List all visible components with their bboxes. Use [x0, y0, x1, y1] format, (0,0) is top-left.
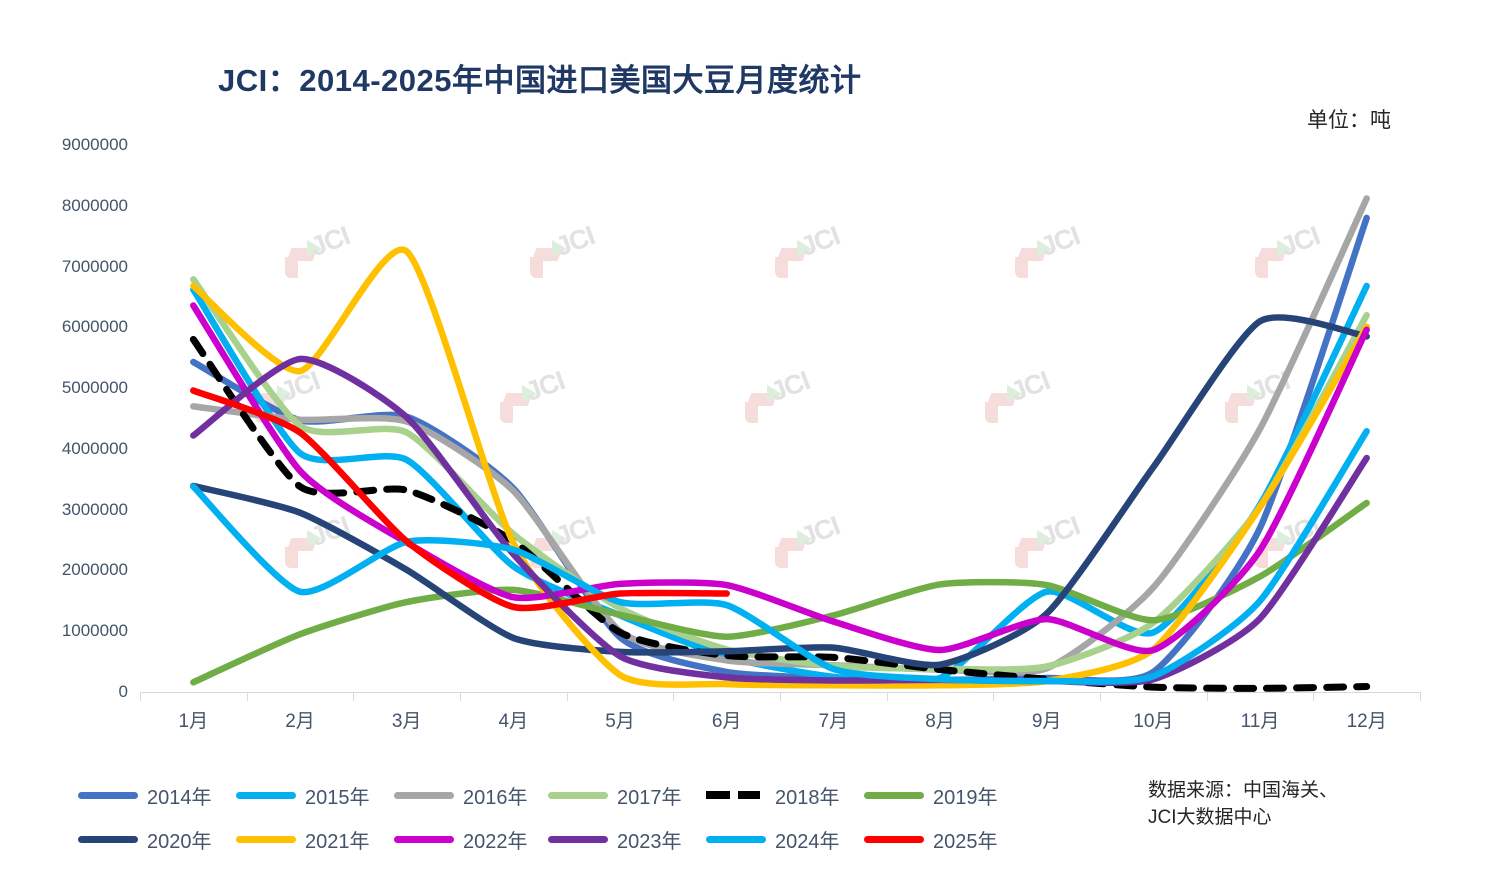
x-axis-tick-label: 5月 — [605, 706, 635, 733]
legend-swatch-icon — [548, 792, 608, 799]
legend-swatch-icon — [236, 792, 296, 799]
x-axis-tick-label: 1月 — [179, 706, 209, 733]
x-axis-tick-label: 9月 — [1032, 706, 1062, 733]
y-axis-tick-label: 6000000 — [62, 317, 128, 337]
x-axis-tick — [887, 692, 888, 701]
legend-label: 2019年 — [933, 781, 998, 810]
x-axis-labels: 1月2月3月4月5月6月7月8月9月10月11月12月 — [140, 702, 1420, 742]
source-line-1: 数据来源：中国海关、 — [1148, 778, 1478, 805]
legend-label: 2022年 — [463, 825, 528, 854]
legend-swatch-icon — [78, 792, 138, 799]
x-axis-tick — [140, 692, 141, 701]
y-axis-tick-label: 2000000 — [62, 560, 128, 580]
legend-label: 2018年 — [775, 781, 840, 810]
legend-swatch-icon — [548, 836, 608, 843]
legend-item-2025年[interactable]: 2025年 — [864, 822, 998, 856]
x-axis-tick — [780, 692, 781, 701]
y-axis-tick-label: 4000000 — [62, 439, 128, 459]
x-axis-tick-label: 2月 — [285, 706, 315, 733]
legend-item-2022年[interactable]: 2022年 — [394, 822, 528, 856]
plot-area — [140, 145, 1420, 692]
legend-swatch-icon — [864, 792, 924, 799]
y-axis-tick-label: 7000000 — [62, 257, 128, 277]
legend-swatch-icon — [236, 836, 296, 843]
legend-label: 2021年 — [305, 825, 370, 854]
legend-item-2015年[interactable]: 2015年 — [236, 778, 370, 812]
legend-row: 2014年2015年2016年2017年2018年2019年 — [78, 778, 1038, 816]
series-line-2024年 — [193, 431, 1366, 681]
x-axis-tick — [673, 692, 674, 701]
x-axis-tick — [353, 692, 354, 701]
legend-item-2019年[interactable]: 2019年 — [864, 778, 998, 812]
legend-label: 2015年 — [305, 781, 370, 810]
legend-row: 2020年2021年2022年2023年2024年2025年 — [78, 822, 1038, 860]
legend-item-2021年[interactable]: 2021年 — [236, 822, 370, 856]
x-axis-tick-label: 12月 — [1347, 706, 1387, 733]
legend-label: 2016年 — [463, 781, 528, 810]
legend-swatch-icon — [706, 836, 766, 843]
series-lines — [140, 145, 1420, 692]
legend-label: 2025年 — [933, 825, 998, 854]
series-line-2021年 — [193, 250, 1366, 686]
y-axis-labels: 0100000020000003000000400000050000006000… — [0, 145, 128, 692]
legend-swatch-icon — [394, 836, 454, 843]
legend-swatch-icon — [394, 792, 454, 799]
x-axis-tick-label: 4月 — [499, 706, 529, 733]
x-axis-tick — [1207, 692, 1208, 701]
x-axis-tick-label: 10月 — [1133, 706, 1173, 733]
legend-label: 2024年 — [775, 825, 840, 854]
chart-title: JCI：2014-2025年中国进口美国大豆月度统计 — [218, 55, 862, 100]
legend-label: 2023年 — [617, 825, 682, 854]
y-axis-tick-label: 1000000 — [62, 621, 128, 641]
legend-item-2020年[interactable]: 2020年 — [78, 822, 212, 856]
x-axis-tick — [460, 692, 461, 701]
unit-label: 单位：吨 — [1307, 104, 1391, 134]
legend-swatch-icon — [864, 836, 924, 843]
x-axis-tick — [993, 692, 994, 701]
x-axis-tick — [567, 692, 568, 701]
chart-legend: 2014年2015年2016年2017年2018年2019年2020年2021年… — [78, 778, 1038, 862]
legend-item-2017年[interactable]: 2017年 — [548, 778, 682, 812]
legend-label: 2020年 — [147, 825, 212, 854]
source-line-2: JCI大数据中心 — [1148, 805, 1478, 832]
source-note: 数据来源：中国海关、 JCI大数据中心 — [1148, 778, 1478, 832]
legend-item-2023年[interactable]: 2023年 — [548, 822, 682, 856]
legend-label: 2014年 — [147, 781, 212, 810]
x-axis-tick — [1313, 692, 1314, 701]
legend-item-2016年[interactable]: 2016年 — [394, 778, 528, 812]
chart-container: JCIJCIJCIJCIJCIJCIJCIJCIJCIJCIJCIJCIJCIJ… — [0, 0, 1499, 891]
y-axis-tick-label: 5000000 — [62, 378, 128, 398]
y-axis-tick-label: 0 — [119, 682, 128, 702]
legend-item-2024年[interactable]: 2024年 — [706, 822, 840, 856]
legend-item-2014年[interactable]: 2014年 — [78, 778, 212, 812]
y-axis-tick-label: 3000000 — [62, 500, 128, 520]
y-axis-tick-label: 9000000 — [62, 135, 128, 155]
y-axis-tick-label: 8000000 — [62, 196, 128, 216]
x-axis-tick-label: 8月 — [925, 706, 955, 733]
x-axis-tick-label: 11月 — [1241, 706, 1280, 733]
x-axis-tick-label: 7月 — [819, 706, 849, 733]
legend-label: 2017年 — [617, 781, 682, 810]
x-axis-tick — [1420, 692, 1421, 701]
x-axis-tick-label: 3月 — [392, 706, 422, 733]
legend-item-2018年[interactable]: 2018年 — [706, 778, 840, 812]
x-axis-tick-label: 6月 — [712, 706, 742, 733]
legend-swatch-icon — [706, 791, 766, 799]
x-axis-tick — [1100, 692, 1101, 701]
x-axis-tick — [247, 692, 248, 701]
legend-swatch-icon — [78, 836, 138, 843]
